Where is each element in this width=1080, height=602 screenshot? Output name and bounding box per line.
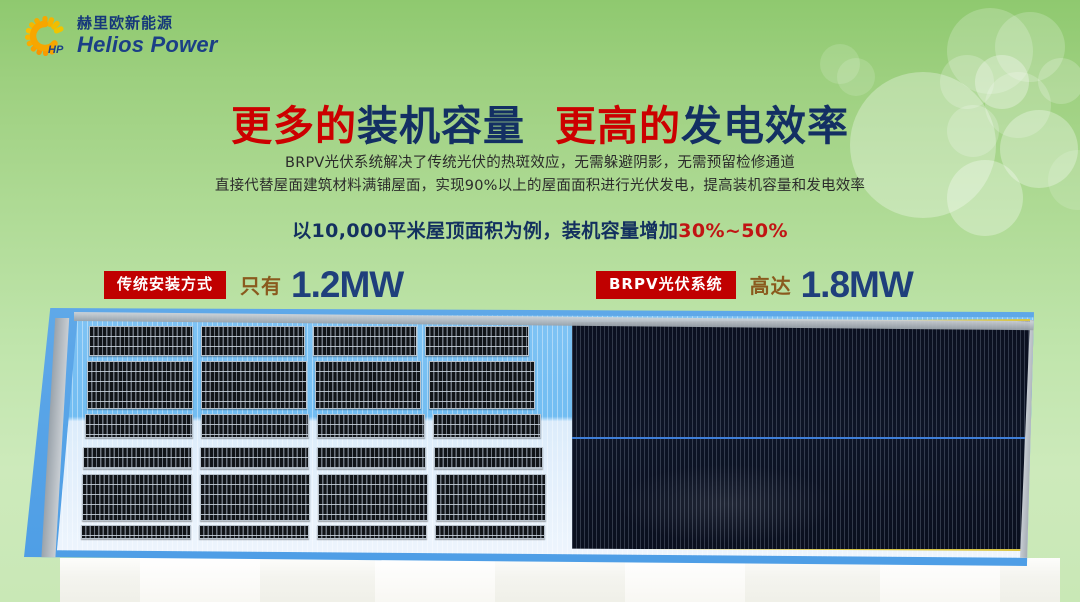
description-block: BRPV光伏系统解决了传统光伏的热斑效应，无需躲避阴影，无需预留检修通道 直接代… [0, 152, 1080, 198]
panel-array [200, 447, 309, 469]
panel-array [201, 361, 307, 409]
description-line-2: 直接代替屋面建筑材料满铺屋面，实现90%以上的屋面面积进行光伏发电，提高装机容量… [0, 175, 1080, 198]
panel-array [81, 525, 191, 539]
bubble-icon [947, 8, 1033, 94]
brand-logo[interactable]: HP 赫里欧新能源 Helios Power [22, 13, 218, 59]
panel-array [433, 414, 541, 438]
panel-array [85, 414, 193, 438]
panel-array [317, 447, 426, 469]
roof-comparison-illustration [0, 300, 1080, 602]
building-pier [625, 558, 745, 602]
panel-array [89, 326, 193, 356]
headline-part2-emphasis: 更高的 [555, 102, 681, 150]
roof-deck [57, 314, 1049, 558]
panel-array [436, 474, 546, 521]
panel-array [315, 361, 421, 409]
stat-value: 1.8MW [801, 266, 913, 303]
stat-brpv: BRPV光伏系统 高达 1.8MW [596, 266, 913, 303]
roof-surface [24, 308, 1034, 566]
panel-array [318, 474, 428, 521]
panel-array [199, 525, 309, 539]
panel-array [313, 326, 417, 356]
bubble-icon [820, 44, 860, 84]
svg-text:HP: HP [48, 44, 64, 56]
status-badge: BRPV光伏系统 [596, 271, 736, 299]
status-badge: 传统安装方式 [104, 271, 226, 299]
panel-array [429, 361, 535, 409]
brand-name-en: Helios Power [77, 34, 218, 56]
headline-part1-emphasis: 更多的 [231, 102, 357, 150]
callout-percent: 30%~50% [678, 220, 788, 242]
headline-part2-subject: 发电效率 [681, 102, 849, 150]
stat-traditional: 传统安装方式 只有 1.2MW [104, 266, 403, 303]
panel-array [87, 361, 193, 409]
capacity-callout: 以10,000平米屋顶面积为例，装机容量增加30%~50% [0, 216, 1080, 243]
panel-array [200, 474, 310, 521]
traditional-mounted-array [57, 314, 577, 558]
building-pier [140, 558, 260, 602]
panel-array [201, 326, 305, 356]
stat-prefix: 只有 [240, 270, 282, 299]
panel-array [434, 447, 543, 469]
bubble-icon [837, 58, 875, 96]
bubble-icon [995, 12, 1065, 82]
panel-array [425, 326, 529, 356]
building-pier [375, 558, 495, 602]
panel-array [201, 414, 309, 438]
sun-burst-icon: HP [22, 13, 68, 59]
panel-array [82, 474, 192, 521]
stat-value: 1.2MW [291, 266, 403, 303]
description-line-1: BRPV光伏系统解决了传统光伏的热斑效应，无需躲避阴影，无需预留检修通道 [0, 152, 1080, 175]
panel-array [435, 525, 545, 539]
page-title: 更多的装机容量更高的发电效率 [0, 92, 1080, 152]
brand-name-cn: 赫里欧新能源 [77, 16, 218, 31]
stat-prefix: 高达 [750, 270, 792, 299]
panel-array [317, 525, 427, 539]
brand-wordmark: 赫里欧新能源 Helios Power [77, 16, 218, 56]
slide-canvas: HP 赫里欧新能源 Helios Power 更多的装机容量更高的发电效率 BR… [0, 0, 1080, 602]
panel-array [83, 447, 192, 469]
brpv-seam-line [572, 437, 1030, 439]
brpv-full-surface-array [572, 319, 1030, 551]
callout-prefix: 以10,000平米屋顶面积为例，装机容量增加 [292, 220, 678, 242]
headline-part1-subject: 装机容量 [357, 102, 525, 150]
panel-array [317, 414, 425, 438]
